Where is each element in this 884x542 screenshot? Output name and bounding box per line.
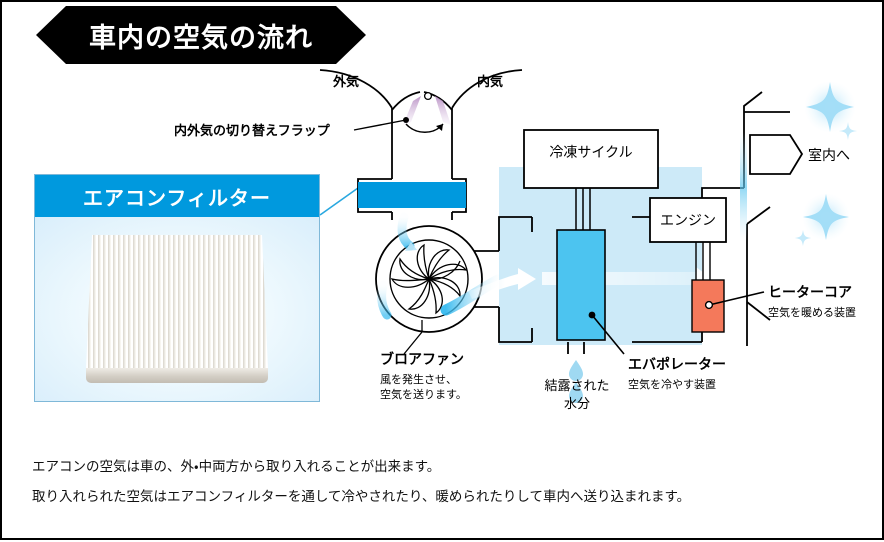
intake-flap <box>403 93 451 133</box>
caption-block: エアコンの空気は車の、外・中両方から取り入れることが出来ます。 取り入れられた空… <box>32 457 862 518</box>
vent-glow <box>740 132 747 242</box>
air-filter-element <box>358 182 466 208</box>
sparkle-star-1 <box>804 81 857 140</box>
label-inside-air: 内気 <box>477 73 503 91</box>
flap-leader <box>354 117 409 130</box>
callout-condensate-line-2: 水分 <box>537 395 617 413</box>
page-title: 車内の空気の流れ <box>36 6 366 64</box>
callout-blower-fan-title: ブロアファン <box>380 350 467 369</box>
callout-heater-core-desc: 空気を暖める装置 <box>768 306 856 321</box>
sparkle-star-2 <box>795 193 850 246</box>
callout-evaporator: エバポレーター 空気を冷やす装置 <box>628 355 726 393</box>
cabin-vent-outlets <box>750 135 802 174</box>
caption-line-2: 取り入れられた空気はエアコンフィルターを通して冷やされたり、暖められたりして車内… <box>32 487 862 507</box>
blower-fan <box>376 226 482 354</box>
callout-blower-fan: ブロアファン 風を発生させ、 空気を送ります。 <box>380 350 467 403</box>
callout-condensate: 結露された 水分 <box>537 377 617 412</box>
label-engine: エンジン <box>652 210 724 230</box>
callout-blower-fan-desc-2: 空気を送ります。 <box>380 388 467 403</box>
callout-heater-core: ヒーターコア 空気を暖める装置 <box>768 283 856 321</box>
callout-condensate-line-1: 結露された <box>537 377 617 395</box>
evaporator-core <box>557 230 605 340</box>
callout-evaporator-title: エバポレーター <box>628 355 726 374</box>
filter-panel-connector <box>320 188 358 215</box>
callout-blower-fan-desc-1: 風を発生させ、 <box>380 373 467 388</box>
callout-evaporator-desc: 空気を冷やす装置 <box>628 378 726 393</box>
label-to-cabin: 室内へ <box>808 145 850 165</box>
caption-line-1: エアコンの空気は車の、外・中両方から取り入れることが出来ます。 <box>32 457 862 477</box>
title-banner: 車内の空気の流れ <box>36 6 366 64</box>
flap-pivot <box>425 93 432 100</box>
label-intake-flap: 内外気の切り替えフラップ <box>174 122 330 140</box>
callout-heater-core-title: ヒーターコア <box>768 283 856 302</box>
diagram-canvas: 車内の空気の流れ エアコンフィルター <box>0 0 884 540</box>
label-outside-air: 外気 <box>333 73 359 91</box>
label-refrigeration-cycle: 冷凍サイクル <box>532 142 650 162</box>
